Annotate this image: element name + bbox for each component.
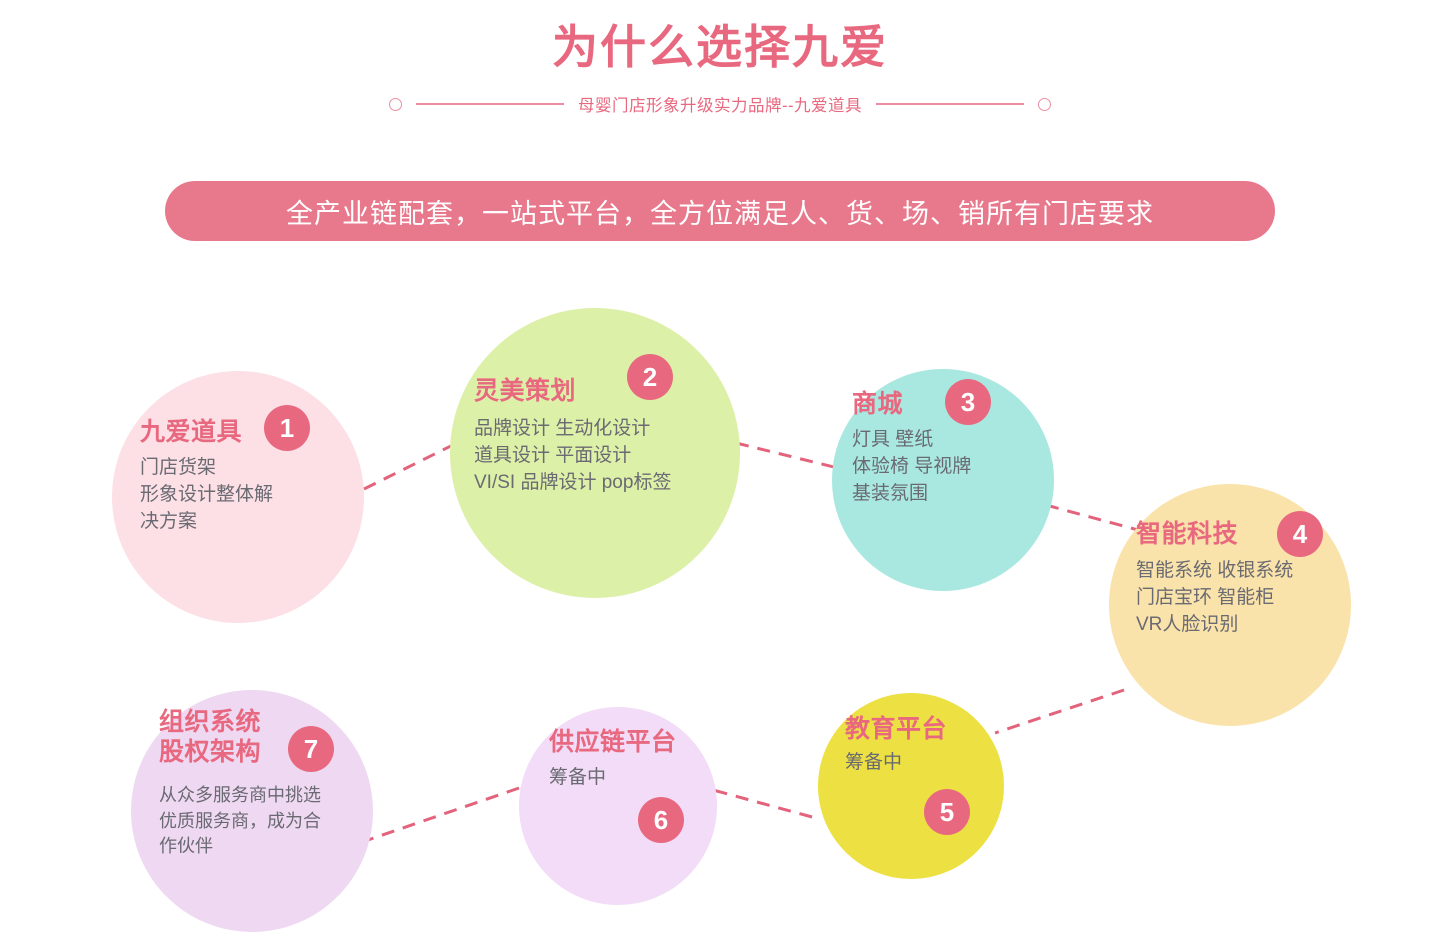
node-2-content: 灵美策划 品牌设计 生动化设计 道具设计 平面设计 VI/SI 品牌设计 pop… [450, 308, 740, 598]
node-7-line-1: 从众多服务商中挑选 [159, 783, 321, 809]
node-5-line-1: 筹备中 [845, 750, 902, 777]
node-4-content: 智能科技 智能系统 收银系统 门店宝环 智能柜 VR人脸识别 4 [1109, 484, 1351, 726]
node-3-line-3: 基装氛围 [852, 481, 971, 508]
node-1-line-1: 门店货架 [140, 455, 273, 482]
page-subtitle: 母婴门店形象升级实力品牌--九爱道具 [578, 92, 862, 116]
node-5-body: 筹备中 [845, 750, 902, 777]
node-circle-5[interactable]: 教育平台 筹备中 5 [818, 693, 1004, 879]
node-4-body: 智能系统 收银系统 门店宝环 智能柜 VR人脸识别 [1136, 558, 1293, 639]
node-2-title: 灵美策划 [474, 377, 576, 407]
node-4-line-3: VR人脸识别 [1136, 612, 1293, 639]
node-6-line-1: 筹备中 [549, 765, 606, 792]
connector-2-3 [736, 443, 846, 470]
node-circle-2[interactable]: 灵美策划 品牌设计 生动化设计 道具设计 平面设计 VI/SI 品牌设计 pop… [450, 308, 740, 598]
node-2-line-3: VI/SI 品牌设计 pop标签 [474, 470, 671, 497]
subtitle-right-dot-icon [1038, 98, 1051, 111]
subtitle-left-dot-icon [389, 98, 402, 111]
node-5-content: 教育平台 筹备中 5 [818, 693, 1004, 879]
node-7-title: 组织系统股权架构 [159, 708, 261, 767]
node-circle-4[interactable]: 智能科技 智能系统 收银系统 门店宝环 智能柜 VR人脸识别 4 [1109, 484, 1351, 726]
node-3-title: 商城 [852, 390, 903, 420]
banner-text: 全产业链配套，一站式平台，全方位满足人、货、场、销所有门店要求 [286, 192, 1154, 231]
node-3-content: 商城 灯具 壁纸 体验椅 导视牌 基装氛围 3 [832, 369, 1054, 591]
node-1-line-3: 决方案 [140, 509, 273, 536]
node-3-badge: 3 [945, 379, 991, 425]
node-circle-6[interactable]: 供应链平台 筹备中 6 [519, 707, 717, 905]
node-4-badge: 4 [1277, 511, 1323, 557]
node-1-badge: 1 [264, 405, 310, 451]
highlight-banner: 全产业链配套，一站式平台，全方位满足人、货、场、销所有门店要求 [165, 181, 1275, 241]
infographic-canvas: 为什么选择九爱 母婴门店形象升级实力品牌--九爱道具 全产业链配套，一站式平台，… [0, 0, 1440, 948]
node-6-body: 筹备中 [549, 765, 606, 792]
connector-6-7 [368, 788, 519, 840]
node-circle-1[interactable]: 九爱道具 门店货架 形象设计整体解 决方案 1 [112, 371, 364, 623]
node-6-content: 供应链平台 筹备中 6 [519, 707, 717, 905]
connector-5-6 [713, 790, 812, 817]
node-5-title: 教育平台 [845, 715, 947, 745]
node-1-line-2: 形象设计整体解 [140, 482, 273, 509]
node-4-title: 智能科技 [1136, 520, 1238, 550]
node-3-body: 灯具 壁纸 体验椅 导视牌 基装氛围 [852, 427, 971, 508]
node-7-body: 从众多服务商中挑选 优质服务商，成为合 作伙伴 [159, 783, 321, 860]
node-7-badge: 7 [288, 726, 334, 772]
node-4-line-2: 门店宝环 智能柜 [1136, 585, 1293, 612]
page-title: 为什么选择九爱 [0, 22, 1440, 73]
node-7-line-3: 作伙伴 [159, 834, 321, 860]
node-6-badge: 6 [638, 797, 684, 843]
node-7-content: 组织系统股权架构 从众多服务商中挑选 优质服务商，成为合 作伙伴 7 [131, 690, 373, 932]
node-6-title: 供应链平台 [549, 728, 677, 758]
node-1-body: 门店货架 形象设计整体解 决方案 [140, 455, 273, 536]
connector-4-5 [995, 690, 1124, 733]
node-circle-3[interactable]: 商城 灯具 壁纸 体验椅 导视牌 基装氛围 3 [832, 369, 1054, 591]
node-3-line-2: 体验椅 导视牌 [852, 454, 971, 481]
subtitle-left-line [416, 103, 564, 105]
node-2-line-2: 道具设计 平面设计 [474, 443, 671, 470]
node-1-title: 九爱道具 [140, 418, 242, 448]
node-circle-7[interactable]: 组织系统股权架构 从众多服务商中挑选 优质服务商，成为合 作伙伴 7 [131, 690, 373, 932]
node-5-badge: 5 [924, 789, 970, 835]
node-2-body: 品牌设计 生动化设计 道具设计 平面设计 VI/SI 品牌设计 pop标签 [474, 416, 671, 497]
subtitle-row: 母婴门店形象升级实力品牌--九爱道具 [0, 92, 1440, 116]
node-7-line-2: 优质服务商，成为合 [159, 809, 321, 835]
node-1-content: 九爱道具 门店货架 形象设计整体解 决方案 1 [112, 371, 364, 623]
node-4-line-1: 智能系统 收银系统 [1136, 558, 1293, 585]
node-2-line-1: 品牌设计 生动化设计 [474, 416, 671, 443]
subtitle-right-line [876, 103, 1024, 105]
node-3-line-1: 灯具 壁纸 [852, 427, 971, 454]
node-2-badge: 2 [627, 354, 673, 400]
